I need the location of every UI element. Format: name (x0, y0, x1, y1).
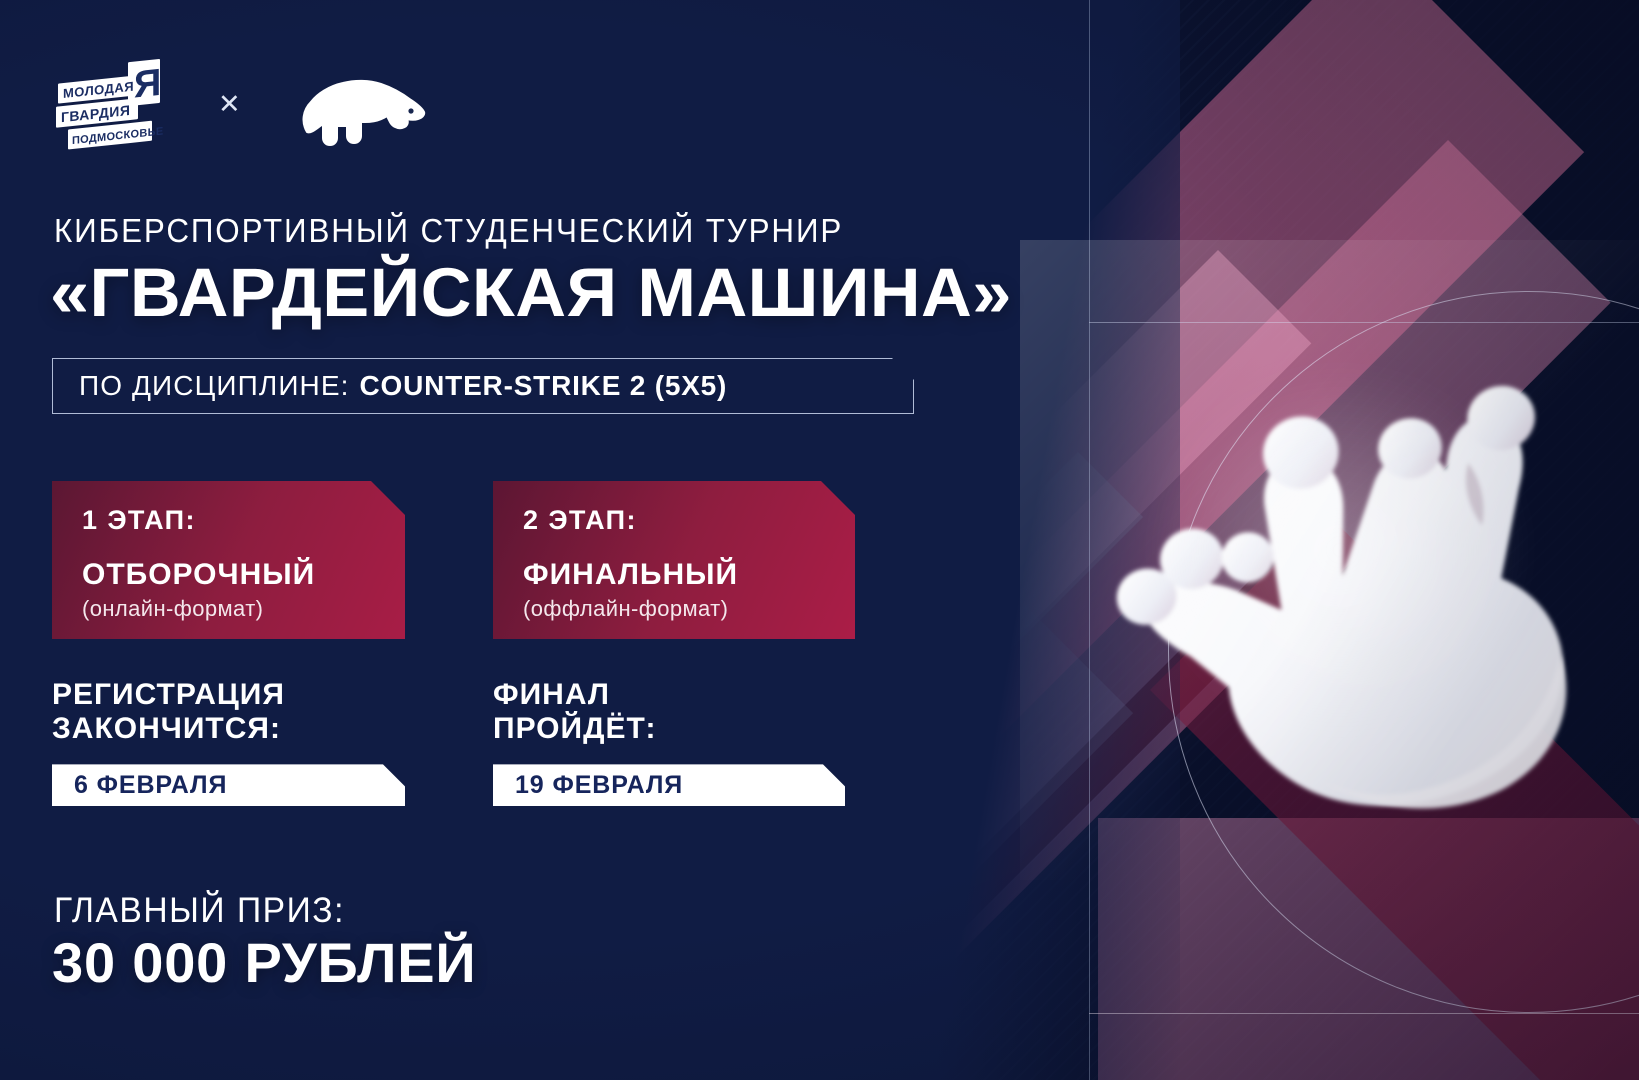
discipline-value: COUNTER-STRIKE 2 (5X5) (360, 370, 728, 402)
crown-illustration (1020, 240, 1639, 880)
tournament-kicker: КИБЕРСПОРТИВНЫЙ СТУДЕНЧЕСКИЙ ТУРНИР (54, 212, 843, 250)
stage-2-name: ФИНАЛЬНЫЙ (523, 558, 829, 592)
bear-logo (289, 66, 429, 150)
final-label: ФИНАЛ ПРОЙДЁТ: (493, 678, 845, 746)
registration-label-line2: ЗАКОНЧИТСЯ: (52, 712, 405, 746)
final-label-line1: ФИНАЛ (493, 678, 845, 712)
stage-1-name: ОТБОРОЧНЫЙ (82, 558, 379, 592)
stage-2-number: 2 ЭТАП: (523, 505, 829, 536)
stage-card-2: 2 ЭТАП: ФИНАЛЬНЫЙ (оффлайн-формат) (493, 481, 855, 639)
discipline-bar: ПО ДИСЦИПЛИНЕ: COUNTER-STRIKE 2 (5X5) (52, 358, 914, 414)
discipline-label: ПО ДИСЦИПЛИНЕ: (79, 370, 350, 402)
stage-1-format: (онлайн-формат) (82, 596, 379, 622)
stage-1-number: 1 ЭТАП: (82, 505, 379, 536)
registration-label: РЕГИСТРАЦИЯ ЗАКОНЧИТСЯ: (52, 678, 405, 746)
final-date-block: ФИНАЛ ПРОЙДЁТ: 19 ФЕВРАЛЯ (493, 678, 845, 806)
mger-logo: МОЛОДАЯ ГВАРДИЯ ПОДМОСКОВЬЕ Я (52, 56, 170, 160)
poster-canvas: МОЛОДАЯ ГВАРДИЯ ПОДМОСКОВЬЕ Я ✕ КИБЕРСПО… (0, 0, 1639, 1080)
final-label-line2: ПРОЙДЁТ: (493, 712, 845, 746)
prize-value: 30 000 РУБЛЕЙ (52, 930, 476, 995)
mger-logo-ya: Я (134, 62, 161, 107)
prize-label: ГЛАВНЫЙ ПРИЗ: (54, 891, 345, 931)
logo-bar: МОЛОДАЯ ГВАРДИЯ ПОДМОСКОВЬЕ Я ✕ (52, 62, 429, 154)
horizontal-guide-line-bottom (1089, 1013, 1639, 1014)
stage-2-format: (оффлайн-формат) (523, 596, 829, 622)
final-date-badge: 19 ФЕВРАЛЯ (493, 764, 845, 806)
registration-date-badge: 6 ФЕВРАЛЯ (52, 764, 405, 806)
cross-icon: ✕ (218, 91, 241, 118)
stage-card-1: 1 ЭТАП: ОТБОРОЧНЫЙ (онлайн-формат) (52, 481, 405, 639)
page-title: «ГВАРДЕЙСКАЯ МАШИНА» (50, 253, 1012, 332)
crown-glow (1080, 300, 1600, 800)
registration-date-block: РЕГИСТРАЦИЯ ЗАКОНЧИТСЯ: 6 ФЕВРАЛЯ (52, 678, 405, 806)
registration-label-line1: РЕГИСТРАЦИЯ (52, 678, 405, 712)
